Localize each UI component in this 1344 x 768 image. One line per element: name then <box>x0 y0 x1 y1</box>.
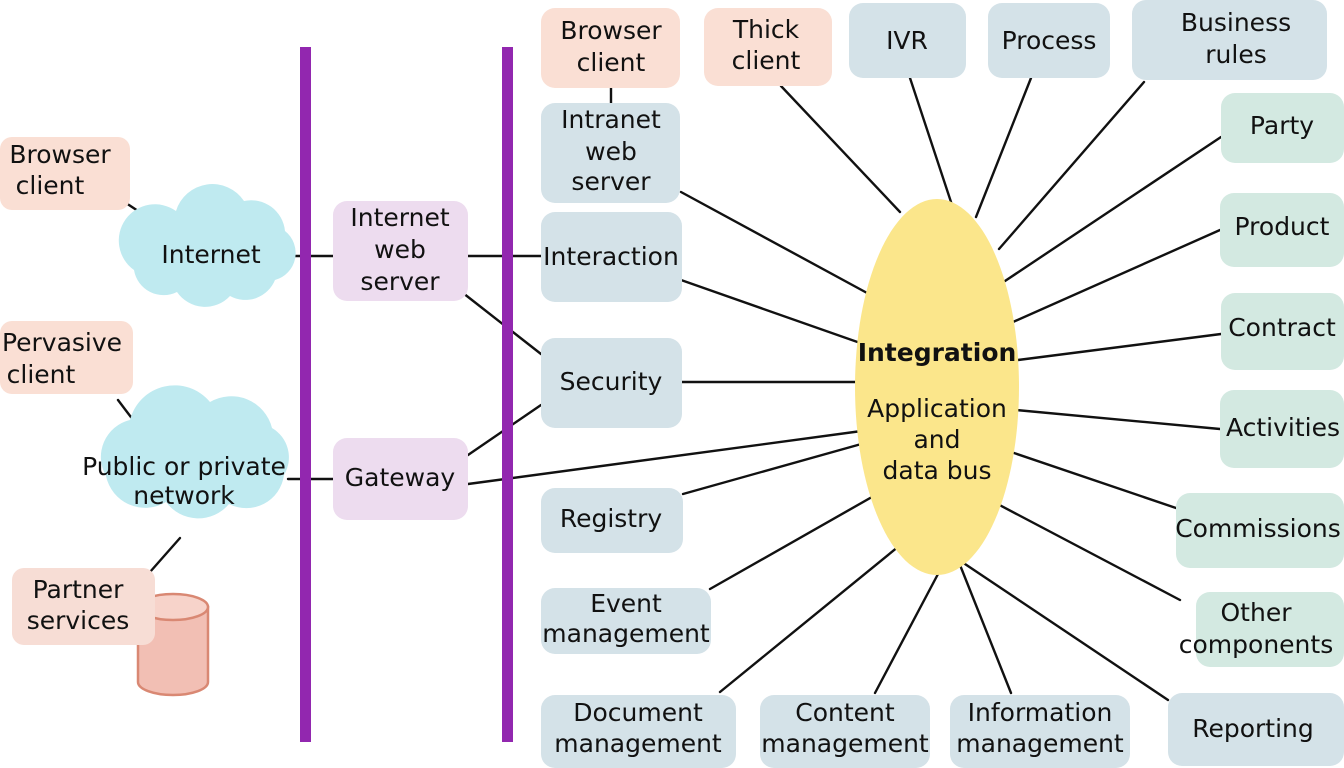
node-browser-client-left-line1: Browser <box>9 140 111 169</box>
node-document-management[interactable]: Document management <box>541 695 736 768</box>
node-other-components[interactable]: Other components <box>1179 592 1344 667</box>
link-document-management-to-hub <box>720 542 904 692</box>
node-ivr-label: IVR <box>886 26 928 55</box>
link-information-management-to-hub <box>960 565 1011 693</box>
cloud-internet[interactable]: Internet <box>119 184 296 307</box>
node-internet-web-server-line2: web <box>374 235 426 264</box>
link-product-to-hub <box>1013 230 1220 322</box>
node-information-management[interactable]: Information management <box>950 695 1130 768</box>
node-thick-client[interactable]: Thick client <box>704 8 832 86</box>
node-internet-web-server-line1: Internet <box>350 203 449 232</box>
link-registry-to-hub <box>683 441 872 494</box>
node-intranet-web-server-line1: Intranet <box>561 105 661 134</box>
node-content-management-line1: Content <box>795 698 895 727</box>
node-reporting-label: Reporting <box>1192 714 1314 743</box>
node-interaction[interactable]: Interaction <box>541 212 682 302</box>
link-process-to-hub <box>976 78 1031 217</box>
node-partner-services-line2: services <box>27 606 130 635</box>
node-reporting[interactable]: Reporting <box>1168 693 1344 766</box>
node-pervasive-client-line2: client <box>7 360 76 389</box>
node-partner-services[interactable]: Partner services <box>12 568 155 645</box>
node-product[interactable]: Product <box>1220 193 1344 267</box>
link-commissions-to-hub <box>1011 452 1176 508</box>
node-document-management-line2: management <box>554 729 722 758</box>
node-party-label: Party <box>1250 111 1314 140</box>
cloud-internet-label: Internet <box>161 240 260 269</box>
node-registry[interactable]: Registry <box>541 488 683 553</box>
node-browser-client-left[interactable]: Browser client <box>0 137 130 210</box>
node-commissions[interactable]: Commissions <box>1175 493 1344 568</box>
node-ivr[interactable]: IVR <box>849 3 966 78</box>
link-gateway-to-hub <box>468 430 869 484</box>
link-reporting-to-hub <box>962 562 1168 700</box>
node-process[interactable]: Process <box>988 3 1110 78</box>
node-partner-services-line1: Partner <box>33 575 125 604</box>
integration-hub-subtitle-line3: data bus <box>883 456 992 485</box>
node-pervasive-client[interactable]: Pervasive client <box>0 321 133 394</box>
link-event-management-to-hub <box>710 489 886 589</box>
node-security-label: Security <box>560 367 663 396</box>
node-information-management-line1: Information <box>968 698 1113 727</box>
node-information-management-line2: management <box>956 729 1124 758</box>
link-other-components-to-hub <box>990 500 1180 600</box>
node-process-label: Process <box>1002 26 1097 55</box>
node-interaction-label: Interaction <box>543 242 679 271</box>
node-gateway-label: Gateway <box>345 463 456 492</box>
node-commissions-label: Commissions <box>1175 514 1341 543</box>
node-business-rules-line2: rules <box>1205 40 1266 69</box>
node-registry-label: Registry <box>560 504 663 533</box>
node-content-management[interactable]: Content management <box>760 695 930 768</box>
node-internet-web-server-line3: server <box>360 267 440 296</box>
integration-hub-title: Integration <box>858 338 1017 367</box>
node-business-rules[interactable]: Business rules <box>1132 0 1327 80</box>
node-internet-web-server[interactable]: Internet web server <box>333 201 468 301</box>
cloud-public-private-network[interactable]: Public or private network <box>82 385 289 518</box>
integration-hub-subtitle-line1: Application <box>867 394 1007 423</box>
integration-hub[interactable]: Integration Application and data bus <box>855 199 1019 575</box>
node-thick-client-line2: client <box>732 46 801 75</box>
node-browser-client-top-line1: Browser <box>560 16 662 45</box>
link-content-management-to-hub <box>875 574 938 693</box>
link-thick-client-to-hub <box>781 86 900 212</box>
node-event-management[interactable]: Event management <box>541 588 711 654</box>
link-party-to-hub <box>1005 137 1221 281</box>
node-activities-label: Activities <box>1226 413 1340 442</box>
node-document-management-line1: Document <box>573 698 703 727</box>
node-other-components-line1: Other <box>1221 598 1293 627</box>
link-ivr-to-hub <box>910 78 952 205</box>
firewall-bar-outer <box>300 47 311 742</box>
integration-hub-shape <box>855 199 1019 575</box>
diagram-svg: Internet Public or private network Brows… <box>0 0 1344 768</box>
link-partner-services-to-network <box>150 538 180 572</box>
link-intranet-web-server-to-hub <box>681 192 880 300</box>
node-other-components-line2: components <box>1179 630 1333 659</box>
link-activities-to-hub <box>1016 410 1220 429</box>
node-pervasive-client-line1: Pervasive <box>2 328 122 357</box>
firewall-bar-inner <box>502 47 513 742</box>
node-event-management-line1: Event <box>590 589 662 618</box>
link-contract-to-hub <box>1018 334 1221 360</box>
cloud-public-private-network-line2: network <box>133 481 235 510</box>
link-interaction-to-hub <box>681 280 866 345</box>
node-security[interactable]: Security <box>541 338 682 428</box>
node-intranet-web-server[interactable]: Intranet web server <box>541 103 680 203</box>
node-contract[interactable]: Contract <box>1221 293 1344 370</box>
node-gateway[interactable]: Gateway <box>333 438 468 520</box>
node-business-rules-line1: Business <box>1181 8 1291 37</box>
integration-hub-subtitle-line2: and <box>913 425 960 454</box>
node-party[interactable]: Party <box>1221 93 1344 163</box>
node-content-management-line2: management <box>761 729 929 758</box>
node-thick-client-line1: Thick <box>732 15 800 44</box>
cloud-public-private-network-line1: Public or private <box>82 452 286 481</box>
node-intranet-web-server-line3: server <box>571 167 651 196</box>
node-product-label: Product <box>1235 212 1330 241</box>
architecture-diagram-canvas: Internet Public or private network Brows… <box>0 0 1344 768</box>
node-contract-label: Contract <box>1228 313 1336 342</box>
node-event-management-line2: management <box>542 619 710 648</box>
node-intranet-web-server-line2: web <box>585 137 637 166</box>
node-activities[interactable]: Activities <box>1220 390 1344 468</box>
node-browser-client-top-line2: client <box>577 48 646 77</box>
node-browser-client-left-line2: client <box>16 171 85 200</box>
node-browser-client-top[interactable]: Browser client <box>541 8 680 88</box>
